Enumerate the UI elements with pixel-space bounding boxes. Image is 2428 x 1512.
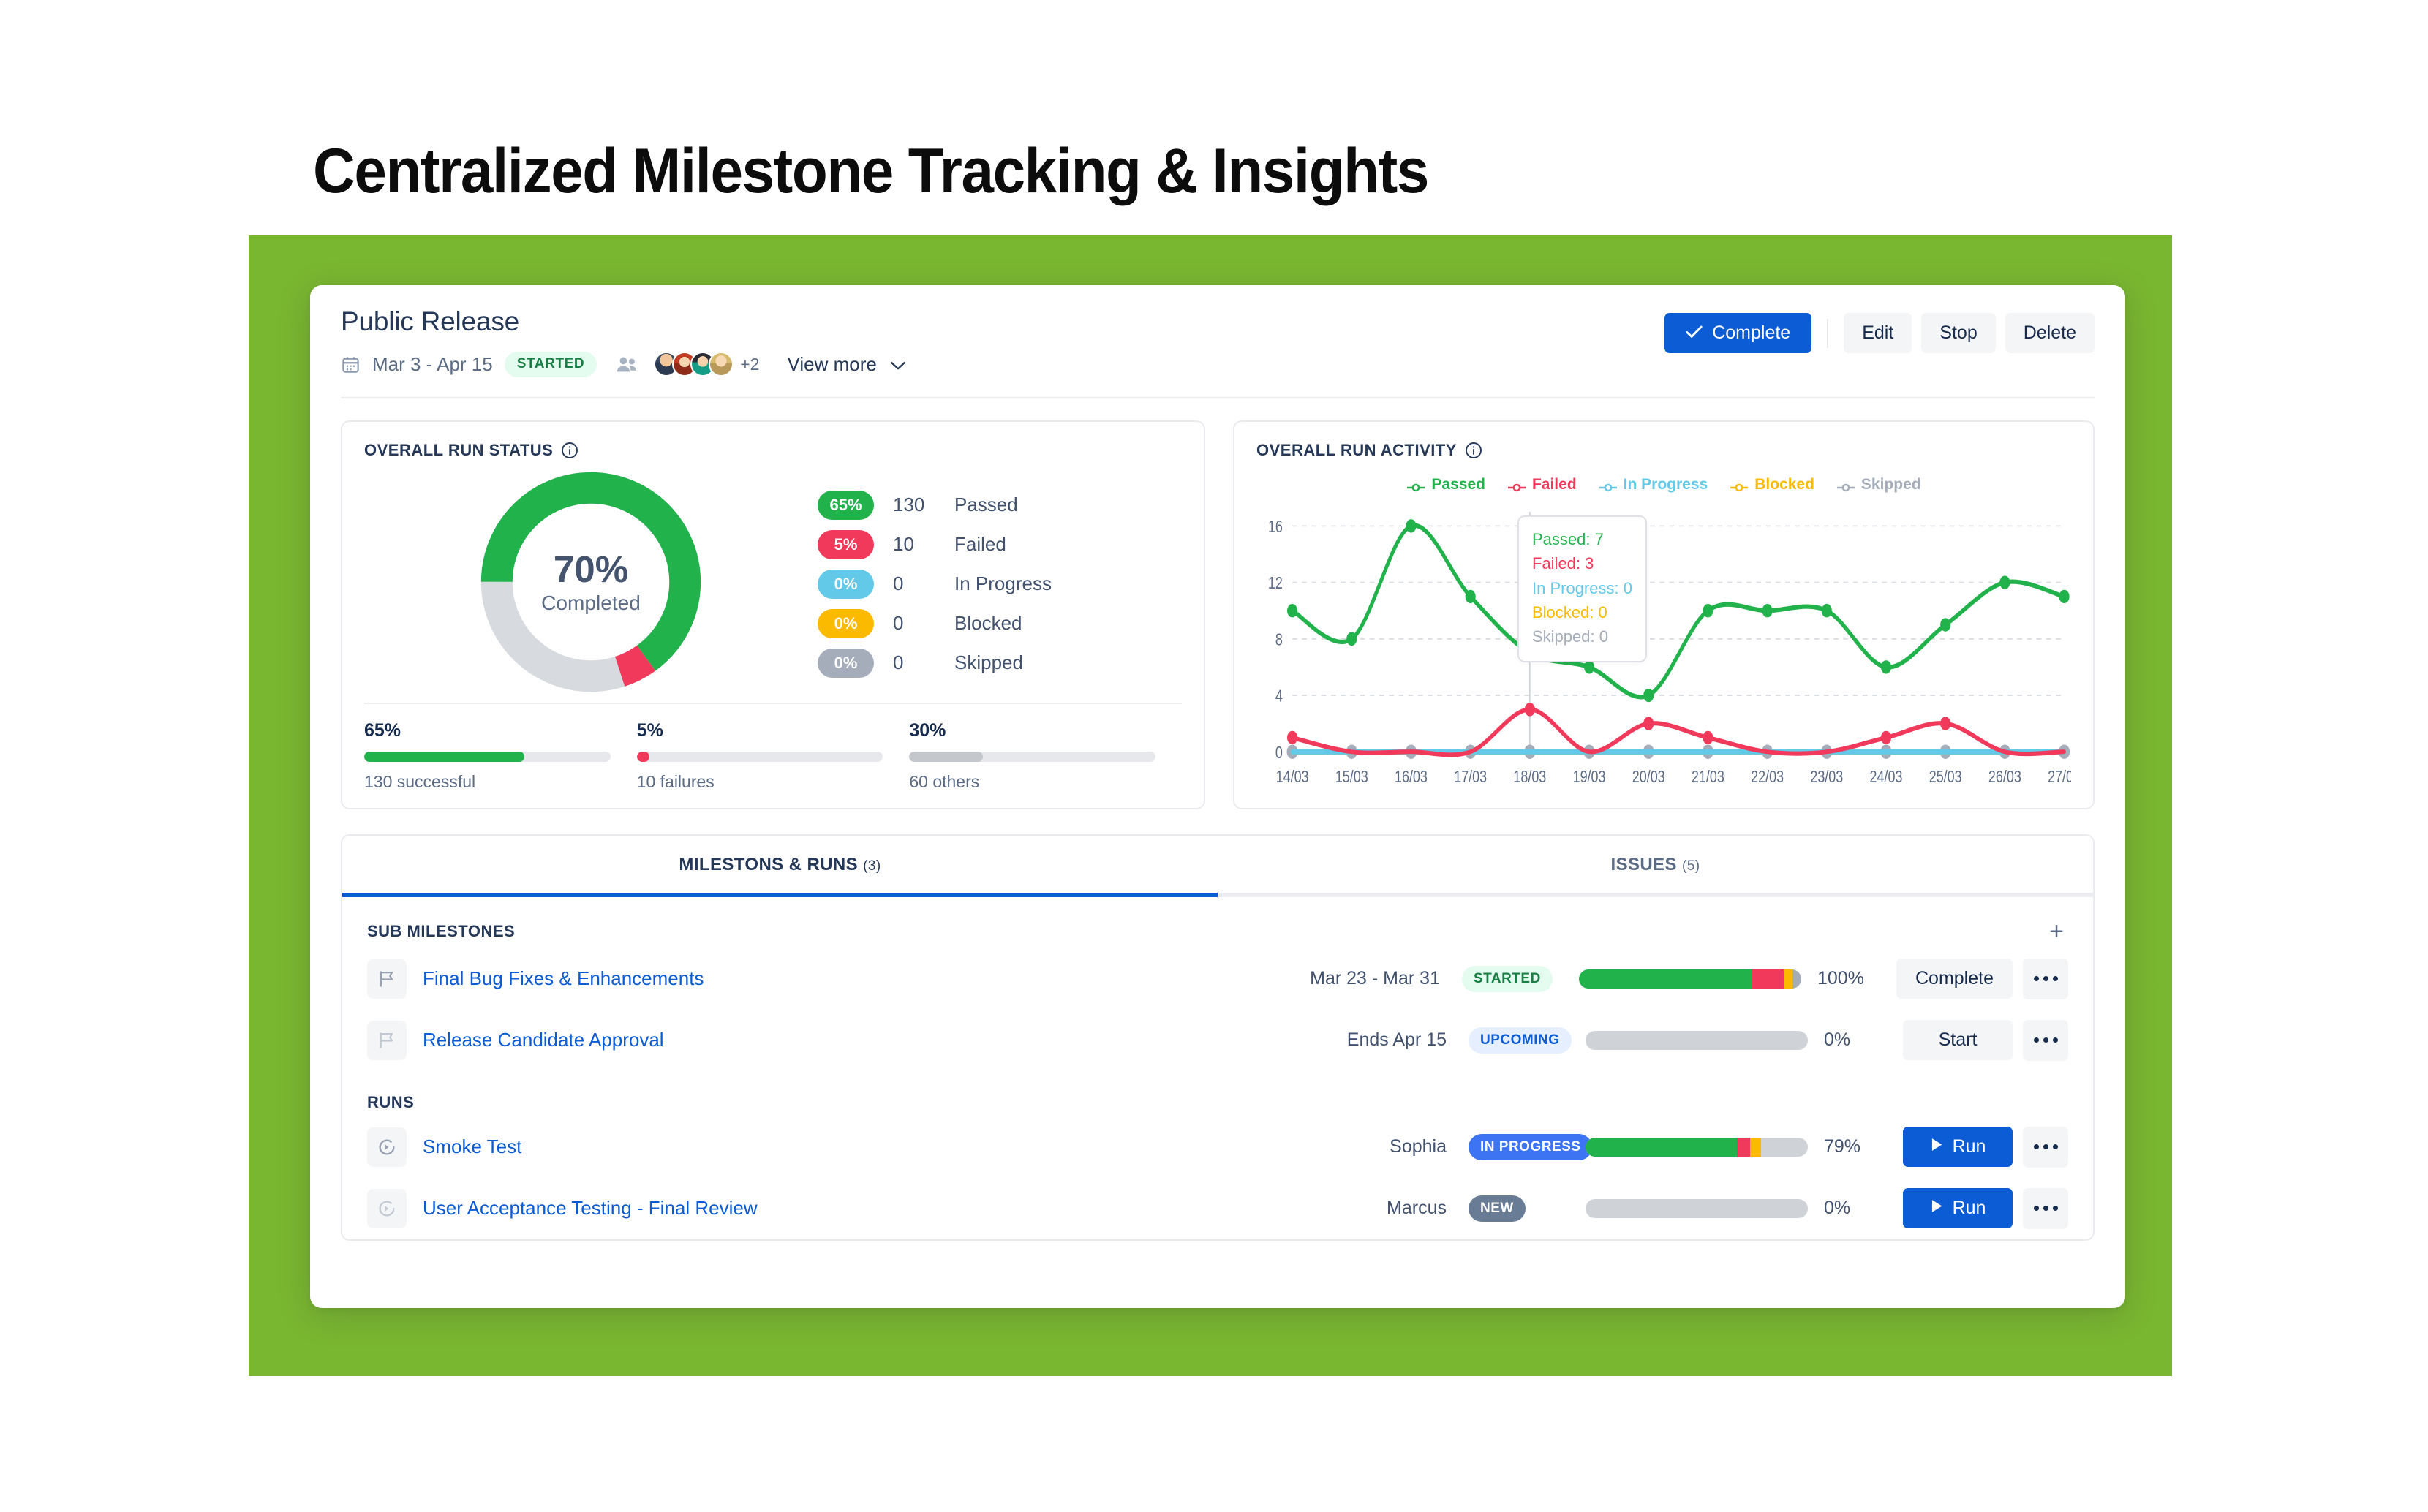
avatar-group[interactable]: +2 [654, 352, 759, 377]
runs-title: RUNS [367, 1093, 414, 1112]
start-milestone-button[interactable]: Start [1903, 1020, 2013, 1060]
status-badge: UPCOMING [1469, 1027, 1572, 1054]
run-status-panel-title: OVERALL RUN STATUS [364, 441, 1182, 460]
data-point [1881, 730, 1891, 744]
stop-button[interactable]: Stop [1921, 313, 1995, 353]
status-badge: NEW [1469, 1195, 1526, 1222]
chart-legend-item-skipped[interactable]: Skipped [1836, 476, 1921, 494]
footer-stat-pct: 30% [909, 720, 1155, 741]
people-icon [616, 355, 638, 373]
progress-group: 79% [1586, 1136, 1878, 1157]
x-tick-label: 17/03 [1454, 767, 1487, 786]
footer-stat: 5% 10 failures [637, 720, 910, 792]
legend-item: 0% 0 Blocked [818, 609, 1052, 638]
milestone-header: Public Release Mar 3 - Apr 15 STARTED [310, 285, 2125, 398]
footer-stat-track [637, 752, 883, 762]
data-point [1287, 604, 1297, 617]
page-title: Centralized Milestone Tracking & Insight… [313, 135, 1428, 208]
data-point [1643, 717, 1654, 730]
tooltip-line-blocked: Blocked: 0 [1532, 600, 1632, 624]
footer-stat-pct: 65% [364, 720, 611, 741]
runs-header: RUNS [342, 1071, 2093, 1116]
data-point [1346, 632, 1357, 645]
series-line-passed [1292, 525, 2064, 697]
svg-text:Completed: Completed [541, 591, 641, 614]
edit-button[interactable]: Edit [1844, 313, 1912, 353]
row-actions: Run [1903, 1127, 2068, 1168]
header-actions: Complete Edit Stop Delete [1664, 313, 2095, 353]
legend-pct-badge: 0% [818, 649, 874, 678]
tooltip-line-in-progress: In Progress: 0 [1532, 576, 1632, 600]
x-tick-label: 25/03 [1929, 767, 1962, 786]
legend-label: In Progress [954, 572, 1052, 595]
x-tick-label: 18/03 [1513, 767, 1546, 786]
chart-legend-label: In Progress [1624, 476, 1708, 494]
legend-item: 65% 130 Passed [818, 491, 1052, 520]
run-status-main: 70% Completed 65% 130 Passed 5% [364, 461, 1182, 703]
sub-milestone-status: UPCOMING [1447, 1027, 1586, 1054]
complete-button-label: Complete [1712, 322, 1790, 344]
legend-marker-icon [1507, 480, 1526, 490]
data-point [1940, 618, 1950, 631]
legend-label: Blocked [954, 612, 1022, 635]
data-point [1703, 730, 1713, 744]
chart-legend-label: Skipped [1861, 476, 1921, 494]
progress-seg-blocked [1750, 1138, 1761, 1157]
progress-pct: 0% [1824, 1198, 1878, 1219]
sub-milestone-status: STARTED [1440, 966, 1579, 992]
progress-seg-passed [1579, 969, 1752, 989]
progress-seg-failed [1752, 969, 1784, 989]
legend-marker-icon [1730, 480, 1749, 490]
x-tick-label: 20/03 [1632, 767, 1665, 786]
run-button-label: Run [1953, 1198, 1986, 1219]
x-tick-label: 21/03 [1692, 767, 1724, 786]
footer-stat-track [909, 752, 1155, 762]
footer-stat: 30% 60 others [909, 720, 1182, 792]
sub-milestone-date: Ends Apr 15 [1278, 1029, 1447, 1051]
x-tick-label: 15/03 [1335, 767, 1368, 786]
sub-milestones-title: SUB MILESTONES [367, 922, 515, 941]
data-point [1822, 604, 1832, 617]
progress-seg-failed [1737, 1138, 1750, 1157]
legend-count: 0 [893, 612, 935, 635]
app-window: Public Release Mar 3 - Apr 15 STARTED [310, 285, 2125, 1308]
progress-bar [1586, 1138, 1808, 1157]
legend-item: 0% 0 In Progress [818, 570, 1052, 599]
progress-bar [1586, 1199, 1808, 1218]
legend-pct-badge: 0% [818, 570, 874, 599]
more-options-icon[interactable] [2023, 959, 2068, 999]
footer-stat-track [364, 752, 611, 762]
progress-group: 100% [1579, 968, 1871, 989]
run-name[interactable]: User Acceptance Testing - Final Review [423, 1197, 758, 1220]
y-tick-label: 0 [1275, 743, 1283, 762]
avatar [709, 352, 734, 377]
run-status: IN PROGRESS [1447, 1134, 1586, 1160]
run-icon [367, 1127, 407, 1167]
footer-stat-fill [637, 752, 649, 762]
tooltip-line-passed: Passed: 7 [1532, 527, 1632, 551]
run-button-label: Run [1953, 1136, 1986, 1157]
delete-button[interactable]: Delete [2005, 313, 2095, 353]
footer-stat-fill [909, 752, 983, 762]
calendar-icon [341, 355, 361, 374]
info-icon[interactable] [1465, 442, 1482, 459]
more-options-icon[interactable] [2023, 1127, 2068, 1168]
legend-item: 5% 10 Failed [818, 530, 1052, 559]
chart-legend-item-blocked[interactable]: Blocked [1730, 476, 1814, 494]
data-point [1999, 575, 2010, 589]
plus-icon[interactable]: + [2045, 919, 2068, 944]
table-row[interactable]: Final Bug Fixes & Enhancements Mar 23 - … [342, 948, 2093, 1010]
legend-count: 130 [893, 494, 935, 516]
footer-stat-pct: 5% [637, 720, 883, 741]
data-point [1762, 604, 1773, 617]
run-activity-panel-title: OVERALL RUN ACTIVITY [1256, 441, 2071, 460]
legend-marker-icon [1599, 480, 1618, 490]
milestone-date-range: Mar 3 - Apr 15 [372, 353, 493, 376]
chart-legend: Passed Failed In Progress [1256, 476, 2071, 494]
summary-row: OVERALL RUN STATUS [341, 420, 2095, 809]
y-tick-label: 4 [1275, 687, 1283, 706]
tab-underline [342, 893, 2093, 897]
run-status-title-text: OVERALL RUN STATUS [364, 441, 553, 460]
y-tick-label: 8 [1275, 630, 1283, 649]
overall-run-activity-panel: OVERALL RUN ACTIVITY Passed [1233, 420, 2095, 809]
complete-milestone-button[interactable]: Complete [1896, 959, 2013, 999]
dashboard-body: OVERALL RUN STATUS [310, 398, 2125, 809]
donut-chart: 70% Completed [364, 461, 818, 703]
sub-milestone-date: Mar 23 - Mar 31 [1272, 968, 1440, 989]
legend-count: 10 [893, 533, 935, 556]
progress-seg-passed [1586, 1138, 1737, 1157]
data-point [1525, 703, 1535, 716]
legend-item: 0% 0 Skipped [818, 649, 1052, 678]
tab-label: ISSUES [1611, 855, 1677, 874]
progress-pct: 0% [1824, 1029, 1878, 1051]
tab-bar: MILESTONS & RUNS (3) ISSUES (5) [342, 836, 2093, 893]
complete-button[interactable]: Complete [1664, 313, 1811, 353]
data-point [1881, 660, 1891, 673]
legend-pct-badge: 5% [818, 530, 874, 559]
status-badge: IN PROGRESS [1469, 1134, 1592, 1160]
tab-count: (3) [863, 858, 881, 874]
sub-milestones-header: SUB MILESTONES + [342, 897, 2093, 948]
sub-milestone-name[interactable]: Release Candidate Approval [423, 1029, 664, 1051]
status-badge: STARTED [1462, 966, 1553, 992]
chart-legend-label: Passed [1431, 476, 1485, 494]
progress-seg-blocked [1784, 969, 1792, 989]
data-point [1406, 519, 1416, 532]
x-tick-label: 16/03 [1395, 767, 1428, 786]
table-row[interactable]: Smoke Test Sophia IN PROGRESS 79% [342, 1116, 2093, 1178]
header-divider [341, 397, 2095, 398]
chart-legend-item-passed[interactable]: Passed [1406, 476, 1485, 494]
progress-pct: 100% [1817, 968, 1871, 989]
tab-issues[interactable]: ISSUES (5) [1218, 836, 2093, 893]
svg-text:70%: 70% [554, 548, 628, 590]
table-row[interactable]: Release Candidate Approval Ends Apr 15 U… [342, 1010, 2093, 1071]
chart-tooltip: Passed: 7 Failed: 3 In Progress: 0 Block… [1517, 515, 1647, 662]
milestone-status-badge: STARTED [505, 352, 597, 377]
more-options-icon[interactable] [2023, 1188, 2068, 1229]
footer-stat-sub: 10 failures [637, 772, 883, 792]
progress-seg-skipped [1792, 969, 1801, 989]
data-point [1940, 717, 1950, 730]
legend-marker-icon [1406, 480, 1425, 490]
progress-bar [1579, 969, 1801, 989]
table-row[interactable]: User Acceptance Testing - Final Review M… [342, 1178, 2093, 1239]
check-icon [1686, 322, 1703, 344]
tab-count: (5) [1682, 858, 1700, 874]
chevron-down-icon [891, 353, 905, 376]
flag-icon [367, 1021, 407, 1060]
data-point [2059, 589, 2069, 602]
data-point [1643, 689, 1654, 702]
legend-count: 0 [893, 651, 935, 674]
milestones-runs-card: MILESTONS & RUNS (3) ISSUES (5) SUB MILE… [341, 834, 2095, 1241]
screenshot-root: Centralized Milestone Tracking & Insight… [0, 0, 2428, 1512]
footer-stat: 65% 130 successful [364, 720, 637, 792]
milestone-meta: Mar 3 - Apr 15 STARTED +2 [341, 352, 2095, 377]
run-owner: Sophia [1278, 1136, 1447, 1157]
tab-milestones-and-runs[interactable]: MILESTONS & RUNS (3) [342, 836, 1218, 893]
chart-legend-item-in-progress[interactable]: In Progress [1599, 476, 1708, 494]
run-status: NEW [1447, 1195, 1586, 1222]
x-tick-label: 27/03 [2048, 767, 2071, 786]
y-tick-label: 12 [1268, 574, 1283, 593]
x-tick-label: 24/03 [1870, 767, 1903, 786]
play-icon [1930, 1198, 1944, 1219]
x-tick-label: 22/03 [1751, 767, 1784, 786]
run-activity-title-text: OVERALL RUN ACTIVITY [1256, 441, 1457, 460]
x-tick-label: 26/03 [1988, 767, 2021, 786]
legend-marker-icon [1836, 480, 1855, 490]
y-tick-label: 16 [1268, 518, 1283, 537]
tab-active-indicator [342, 893, 1218, 897]
x-tick-label: 19/03 [1573, 767, 1606, 786]
avatar-overflow-count: +2 [740, 355, 759, 374]
row-actions: Start [1903, 1020, 2068, 1061]
play-icon [1930, 1136, 1944, 1157]
run-button[interactable]: Run [1903, 1127, 2013, 1167]
progress-bar [1586, 1031, 1808, 1050]
legend-pct-badge: 65% [818, 491, 874, 520]
run-name[interactable]: Smoke Test [423, 1135, 521, 1158]
progress-pct: 79% [1824, 1136, 1878, 1157]
legend-label: Skipped [954, 651, 1023, 674]
flag-icon [367, 959, 407, 999]
tooltip-line-skipped: Skipped: 0 [1532, 624, 1632, 649]
footer-stat-fill [364, 752, 524, 762]
tooltip-line-failed: Failed: 3 [1532, 551, 1632, 575]
sub-milestone-name[interactable]: Final Bug Fixes & Enhancements [423, 967, 704, 990]
progress-group: 0% [1586, 1198, 1878, 1219]
run-button[interactable]: Run [1903, 1188, 2013, 1228]
more-options-icon[interactable] [2023, 1020, 2068, 1061]
view-more-button[interactable]: View more [787, 353, 905, 376]
run-icon [367, 1189, 407, 1228]
data-point [1466, 589, 1476, 602]
view-more-label: View more [787, 353, 876, 375]
tab-label: MILESTONS & RUNS [679, 855, 858, 874]
info-icon[interactable] [561, 442, 578, 459]
data-point [1287, 730, 1297, 744]
overall-run-status-panel: OVERALL RUN STATUS [341, 420, 1205, 809]
action-divider [1827, 319, 1828, 348]
run-status-footer: 65% 130 successful 5% 10 failures [364, 703, 1182, 792]
x-tick-label: 23/03 [1810, 767, 1843, 786]
run-status-legend: 65% 130 Passed 5% 10 Failed 0% [818, 486, 1052, 678]
footer-stat-sub: 60 others [909, 772, 1155, 792]
row-actions: Run [1903, 1188, 2068, 1229]
legend-label: Failed [954, 533, 1006, 556]
row-actions: Complete [1896, 959, 2068, 999]
data-point [1703, 604, 1713, 617]
progress-group: 0% [1586, 1029, 1878, 1051]
chart-legend-label: Blocked [1754, 476, 1814, 494]
legend-count: 0 [893, 572, 935, 595]
run-owner: Marcus [1278, 1198, 1447, 1219]
chart-legend-label: Failed [1532, 476, 1577, 494]
x-tick-label: 14/03 [1276, 767, 1309, 786]
legend-pct-badge: 0% [818, 609, 874, 638]
footer-stat-sub: 130 successful [364, 772, 611, 792]
legend-label: Passed [954, 494, 1018, 516]
run-activity-chart[interactable]: 048121614/0315/0316/0317/0318/0319/0320/… [1256, 499, 2071, 795]
chart-legend-item-failed[interactable]: Failed [1507, 476, 1577, 494]
